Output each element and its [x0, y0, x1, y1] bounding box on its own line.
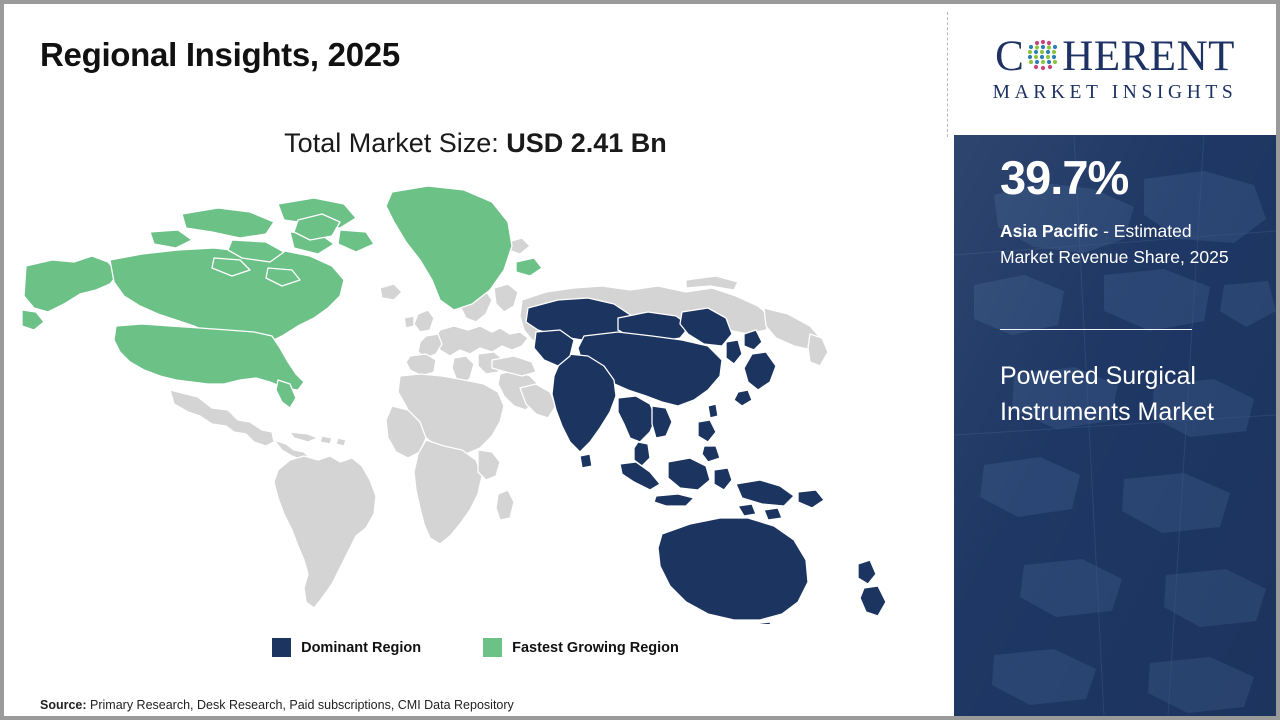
logo-word-c: C — [995, 35, 1024, 78]
color-swatch-fastest-growing-icon — [483, 638, 502, 657]
legend-label-dominant: Dominant Region — [301, 640, 421, 656]
highlight-sidebar: 39.7% Asia Pacific - Estimated Market Re… — [954, 135, 1276, 716]
legend-label-fastest-growing: Fastest Growing Region — [512, 640, 679, 656]
page-title: Regional Insights, 2025 — [40, 36, 400, 74]
logo-tagline: MARKET INSIGHTS — [993, 82, 1238, 104]
world-map — [22, 184, 932, 624]
company-logo[interactable]: C — [954, 4, 1276, 134]
source-line: Source: Primary Research, Desk Research,… — [40, 698, 514, 712]
market-name: Powered Surgical Instruments Market — [1000, 359, 1230, 430]
logo-word-herent: HERENT — [1062, 35, 1235, 78]
market-size-value: USD 2.41 Bn — [506, 128, 667, 158]
vertical-dashed-divider — [947, 12, 948, 137]
market-size-label: Total Market Size: — [284, 128, 506, 158]
sidebar-divider — [1000, 329, 1192, 330]
stat-description: Asia Pacific - Estimated Market Revenue … — [1000, 219, 1236, 271]
logo-wordmark-row: C — [995, 35, 1235, 78]
color-swatch-dominant-icon — [272, 638, 291, 657]
total-market-size: Total Market Size: USD 2.41 Bn — [4, 128, 947, 159]
source-label: Source: — [40, 698, 87, 712]
stat-region-name: Asia Pacific — [1000, 221, 1098, 241]
source-text: Primary Research, Desk Research, Paid su… — [87, 698, 514, 712]
map-legend: Dominant Region Fastest Growing Region — [4, 638, 947, 657]
legend-item-dominant[interactable]: Dominant Region — [272, 638, 421, 657]
map-region-asia-pacific — [526, 298, 886, 624]
stat-percent: 39.7% — [1000, 154, 1128, 201]
infographic-frame: Regional Insights, 2025 Total Market Siz… — [4, 4, 1276, 716]
dotted-globe-icon — [1025, 37, 1061, 73]
left-content-pane: Regional Insights, 2025 Total Market Siz… — [4, 4, 947, 716]
legend-item-fastest-growing[interactable]: Fastest Growing Region — [483, 638, 679, 657]
